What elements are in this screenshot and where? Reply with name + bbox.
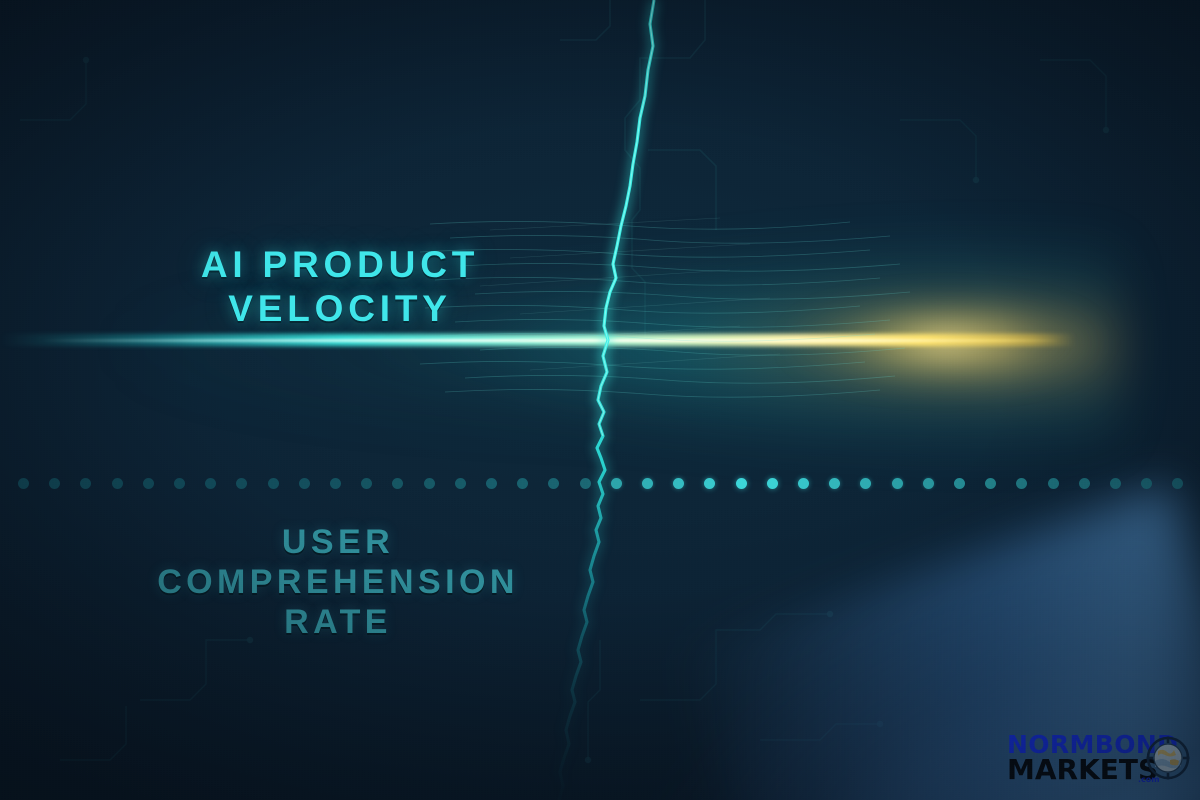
noise-overlay	[0, 0, 1200, 800]
image-canvas: AI PRODUCT VELOCITY USER COMPREHENSION R…	[0, 0, 1200, 800]
